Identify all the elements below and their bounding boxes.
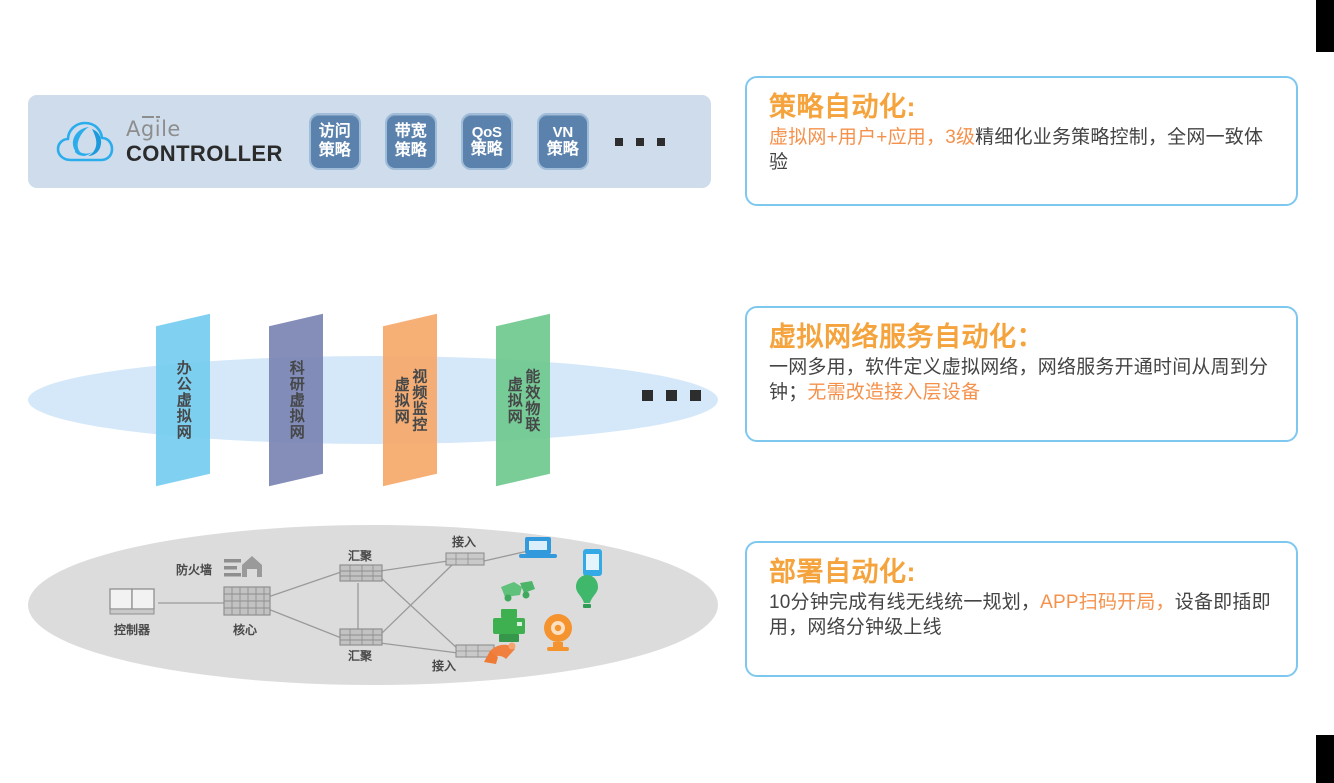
ip-camera-icon: [544, 614, 572, 651]
aggregation-switch-upper-icon: [340, 565, 382, 581]
feature-body-highlight-1: 无需改造接入层设备: [807, 382, 980, 403]
topology-label-aggregation-upper: 汇聚: [348, 547, 372, 564]
bottom-right-black-bar: [1316, 735, 1334, 783]
agile-controller-logo: Agile CONTROLLER: [56, 118, 283, 166]
policy-chip-qos-line1: QoS: [472, 124, 502, 141]
policy-chip-access[interactable]: 访问 策略: [309, 113, 361, 170]
feature-body-deployment-automation: 10分钟完成有线无线统一规划，APP扫码开局，设备即插即用，网络分钟级上线: [769, 590, 1278, 641]
policy-chip-access-line2: 策略: [319, 142, 351, 161]
vn-plane-research: 科研虚拟网: [269, 314, 323, 486]
vn-plane-video-surveillance: 视频监控 虚拟网: [383, 314, 437, 486]
vn-plane-office-label: 办公虚拟网: [174, 360, 192, 440]
policy-chip-vn-line1: VN: [553, 124, 573, 141]
tablet-icon: [583, 549, 602, 576]
topology-label-access-lower: 接入: [432, 657, 456, 674]
topology-label-aggregation-lower: 汇聚: [348, 647, 372, 664]
topology-section: 控制器 防火墙 核心 汇聚 汇聚 接入 接入: [28, 525, 718, 685]
policy-chip-qos[interactable]: QoS 策略: [461, 113, 513, 170]
vn-plane-energy-iot-label: 能效物联 虚拟网: [505, 368, 540, 432]
policy-chip-bandwidth-line2: 策略: [395, 142, 427, 161]
logo-controller-text: CONTROLLER: [126, 143, 283, 165]
virtual-network-more-dots-icon: [642, 390, 701, 401]
feature-card-deployment-automation: 部署自动化: 10分钟完成有线无线统一规划，APP扫码开局，设备即插即用，网络分…: [745, 541, 1298, 677]
cloud-swirl-icon: [56, 118, 114, 166]
topology-label-controller: 控制器: [114, 621, 150, 638]
controller-node-icon: [110, 589, 154, 614]
smart-bulb-icon: [576, 575, 598, 608]
agile-controller-wordmark: Agile CONTROLLER: [126, 119, 283, 165]
feature-title-policy-automation: 策略自动化:: [769, 92, 1278, 123]
policy-chip-qos-line2: 策略: [471, 141, 503, 160]
topology-label-access-upper: 接入: [452, 533, 476, 550]
feature-body-plain-2a: 10分钟完成有线无线统一规划，: [769, 592, 1040, 613]
laptop-icon: [519, 537, 557, 558]
agile-controller-bar: Agile CONTROLLER 访问 策略 带宽 策略 QoS 策略 VN 策…: [28, 95, 711, 188]
feature-body-highlight-0: 虚拟网+用户+应用，3级: [769, 127, 975, 148]
printer-icon: [493, 609, 525, 642]
topology-label-core: 核心: [233, 621, 257, 638]
policy-chip-group: 访问 策略 带宽 策略 QoS 策略 VN 策略: [309, 113, 589, 170]
feature-title-deployment-automation: 部署自动化:: [769, 557, 1278, 588]
feature-body-virtual-network-service-automation: 一网多用，软件定义虚拟网络，网络服务开通时间从周到分钟；无需改造接入层设备: [769, 355, 1278, 406]
virtual-network-section: 办公虚拟网 科研虚拟网 视频监控 虚拟网 能效物联 虚拟网: [28, 300, 718, 500]
policy-chip-bandwidth[interactable]: 带宽 策略: [385, 113, 437, 170]
top-right-black-bar: [1316, 0, 1334, 52]
access-switch-upper-icon: [446, 553, 484, 565]
feature-body-highlight-2: APP扫码开局，: [1040, 592, 1175, 613]
virtual-network-band: [28, 356, 718, 444]
vn-plane-research-label: 科研虚拟网: [287, 360, 305, 440]
vn-plane-energy-iot: 能效物联 虚拟网: [496, 314, 550, 486]
feature-card-policy-automation: 策略自动化: 虚拟网+用户+应用，3级精细化业务策略控制，全网一致体验: [745, 76, 1298, 206]
policy-chip-bandwidth-line1: 带宽: [395, 123, 427, 142]
aggregation-switch-lower-icon: [340, 629, 382, 645]
feature-title-virtual-network-service-automation: 虚拟网络服务自动化：: [769, 322, 1278, 353]
logo-agile-text: Agile: [126, 119, 283, 140]
feature-card-virtual-network-service-automation: 虚拟网络服务自动化： 一网多用，软件定义虚拟网络，网络服务开通时间从周到分钟；无…: [745, 306, 1298, 442]
core-switch-node-icon: [224, 587, 270, 615]
policy-chip-access-line1: 访问: [319, 123, 351, 142]
policy-chip-vn-line2: 策略: [547, 141, 579, 160]
feature-body-policy-automation: 虚拟网+用户+应用，3级精细化业务策略控制，全网一致体验: [769, 125, 1278, 176]
firewall-node-icon: [224, 556, 262, 577]
topology-diagram: [28, 525, 718, 685]
vn-plane-video-surveillance-label: 视频监控 虚拟网: [392, 368, 427, 432]
controller-more-dots-icon: [615, 138, 665, 146]
policy-chip-vn[interactable]: VN 策略: [537, 113, 589, 170]
topology-label-firewall: 防火墙: [176, 561, 212, 578]
vn-plane-office: 办公虚拟网: [156, 314, 210, 486]
slide-canvas: Agile CONTROLLER 访问 策略 带宽 策略 QoS 策略 VN 策…: [0, 0, 1334, 783]
vehicle-sensor-icon: [501, 581, 535, 602]
